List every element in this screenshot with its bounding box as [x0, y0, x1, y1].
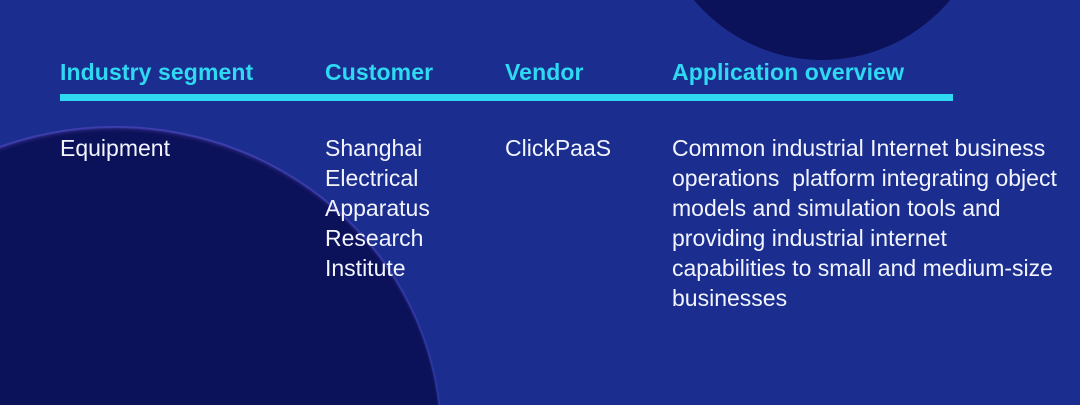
column-header-application-overview: Application overview: [672, 59, 1060, 85]
cell-industry-segment: Equipment: [60, 133, 325, 163]
cell-application-overview: Common industrial Internet business oper…: [672, 133, 1060, 313]
table-row: Equipment Shanghai Electrical Apparatus …: [60, 133, 1060, 313]
cell-vendor: ClickPaaS: [505, 133, 672, 163]
column-header-industry-segment: Industry segment: [60, 59, 325, 85]
cell-customer: Shanghai Electrical Apparatus Research I…: [325, 133, 505, 283]
table-header-row: Industry segment Customer Vendor Applica…: [60, 59, 1060, 85]
header-underline-rule: [60, 94, 953, 101]
column-header-vendor: Vendor: [505, 59, 672, 85]
comparison-table: Industry segment Customer Vendor Applica…: [0, 0, 1080, 405]
slide-canvas: Industry segment Customer Vendor Applica…: [0, 0, 1080, 405]
column-header-customer: Customer: [325, 59, 505, 85]
